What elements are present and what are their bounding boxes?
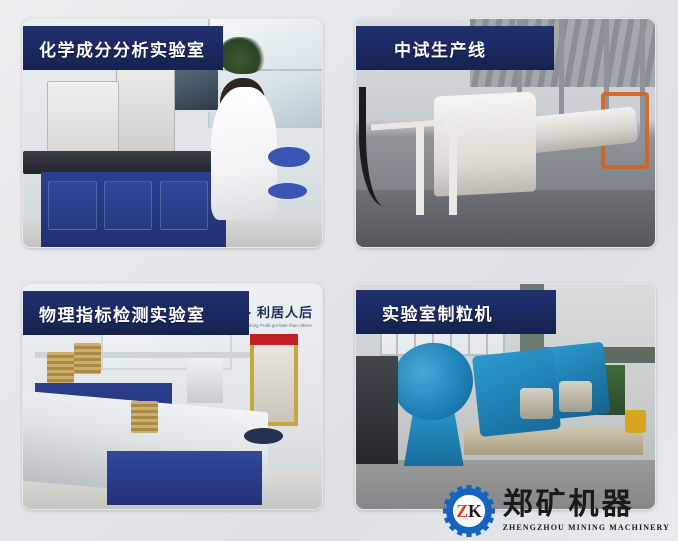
logo-company-en: ZHENGZHOU MINING MACHINERY (503, 524, 670, 532)
svg-text:ZK: ZK (456, 501, 482, 521)
company-logo: ZK 郑矿机器 ZHENGZHOU MINING MACHINERY (443, 485, 670, 537)
overlay-slogan-text: · 利居人后 (247, 302, 313, 321)
card-pilot-production-line[interactable]: 中试生产线 (355, 18, 656, 248)
card-laboratory-granulator[interactable]: 实验室制粒机 (355, 283, 656, 510)
photo-overlay-slogan: · 利居人后 rking Profit got later than other… (247, 302, 313, 328)
card-title: 化学成分分析实验室 (39, 36, 206, 61)
card-title-banner: 物理指标检测实验室 (23, 291, 249, 335)
card-chemical-analysis-lab[interactable]: 化学成分分析实验室 (22, 18, 323, 248)
card-title: 中试生产线 (394, 36, 487, 61)
card-title: 实验室制粒机 (382, 300, 493, 325)
card-physical-index-testing-lab[interactable]: · 利居人后 rking Profit got later than other… (22, 283, 323, 510)
logo-wordmark: 郑矿机器 ZHENGZHOU MINING MACHINERY (503, 490, 670, 532)
card-title-banner: 中试生产线 (356, 26, 554, 70)
logo-company-cn: 郑矿机器 (503, 490, 670, 520)
card-title: 物理指标检测实验室 (39, 301, 206, 326)
card-title-banner: 实验室制粒机 (356, 290, 556, 334)
overlay-slogan-subtext: rking Profit got later than others (247, 323, 313, 328)
card-title-banner: 化学成分分析实验室 (23, 26, 223, 70)
lab-photo-grid: 化学成分分析实验室 中试生产线 (22, 18, 656, 510)
gear-icon: ZK (443, 485, 495, 537)
